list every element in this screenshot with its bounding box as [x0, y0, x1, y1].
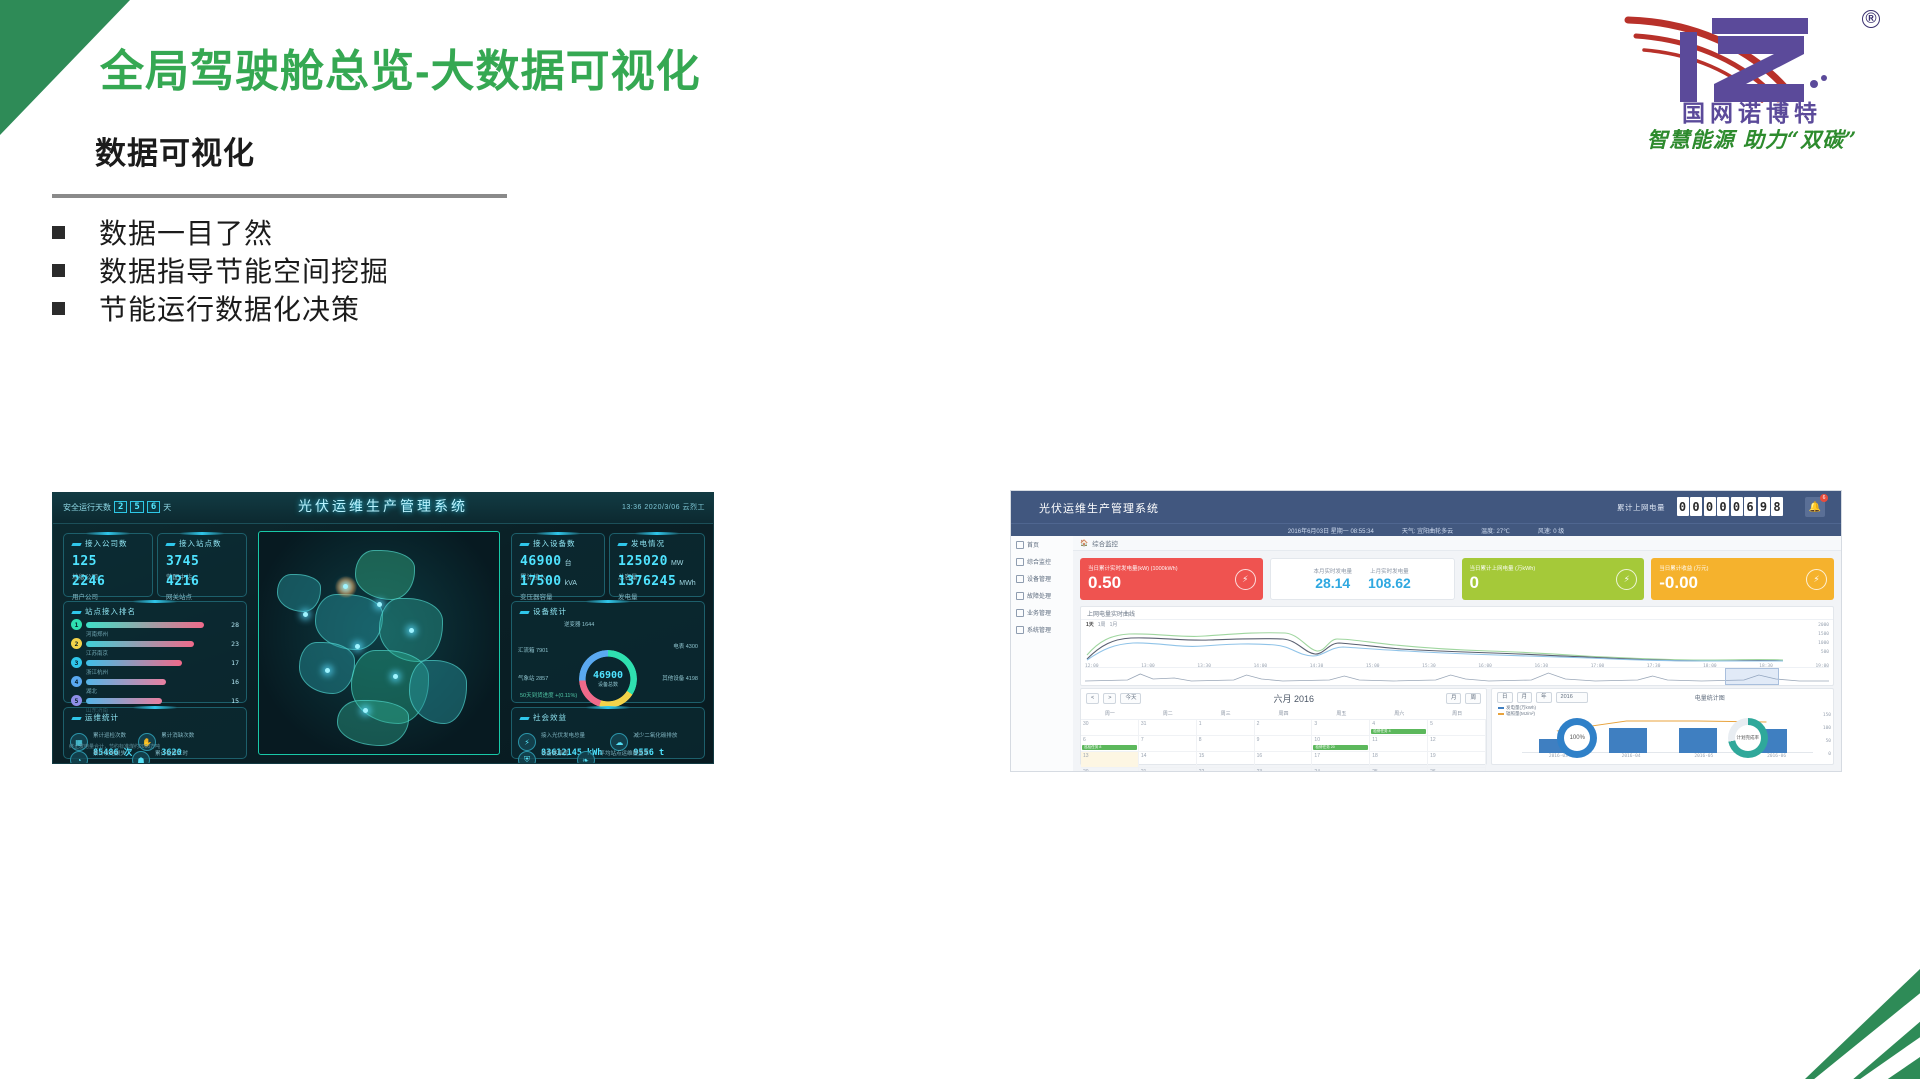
rank-bar — [86, 698, 162, 704]
chart-tab[interactable]: 1月 — [1110, 621, 1118, 628]
legend-name: 逆变器 — [564, 622, 581, 628]
y-tick: 1500 — [1818, 632, 1829, 637]
rank-row: 1 28 — [71, 619, 239, 630]
year-select[interactable]: 2016 — [1556, 692, 1588, 703]
kpi-card-daily-generation: 当日累计实时发电量(kW) (1000kWh) 0.50 ⚡ — [1080, 558, 1263, 600]
calendar-weekday: 周一 — [1081, 708, 1139, 720]
bolt-icon: ⚡ — [1806, 569, 1827, 590]
ops-label: 累计检修工时 — [155, 751, 188, 757]
sidebar-item-monitor[interactable]: 综合监控 — [1011, 553, 1073, 570]
calendar-day-cell[interactable]: 18 — [1370, 752, 1428, 768]
realtime-curve-panel: 上网电量实时曲线 1天 1周 1月 12:00 13:00 13:30 14:0… — [1080, 606, 1834, 686]
legend-name: 其他设备 — [662, 676, 684, 682]
section-subtitle: 数据可视化 — [95, 128, 255, 173]
person-icon: ☗ — [132, 751, 150, 764]
sidebar-item-label: 系统管理 — [1027, 625, 1051, 634]
light-dashboard-title: 光伏运维生产管理系统 — [1039, 500, 1159, 516]
calendar-weekday: 周三 — [1197, 708, 1255, 720]
left-dashboard-screenshot: 光伏运维生产管理系统 安全运行天数 2 5 6 天 13:36 2020/3/0… — [52, 492, 714, 764]
safety-digit: 2 — [114, 501, 127, 513]
map-panel — [258, 531, 500, 755]
rank-bar — [86, 622, 204, 628]
map-marker — [409, 628, 414, 633]
safety-digit: 5 — [130, 501, 143, 513]
calendar-weekday: 周五 — [1312, 708, 1370, 720]
social-item: ⛨ 设备健康度98% — [518, 742, 569, 764]
company-logo: ® 国网诺博特 智慧能源 助力“双碳” — [1618, 6, 1886, 154]
meter-label: 累计上网电量 — [1617, 502, 1665, 513]
calendar-weekday: 周二 — [1139, 708, 1197, 720]
list-item: 数据指导节能空间挖掘 — [52, 251, 389, 289]
bullet-square-icon — [52, 302, 65, 315]
card-caption: 运维统计 — [72, 712, 119, 723]
rank-number: 2 — [71, 638, 82, 649]
corner-wedge-bottom-right — [1805, 969, 1920, 1079]
bullet-text: 数据一目了然 — [99, 212, 273, 252]
list-item: 数据一目了然 — [52, 213, 389, 251]
notification-bell-button[interactable]: 🔔 6 — [1805, 497, 1825, 517]
rank-row: 4 16 — [71, 676, 239, 687]
kpi-card-row: 当日累计实时发电量(kW) (1000kWh) 0.50 ⚡ 本月实时发电量 2… — [1073, 551, 1841, 607]
rank-row: 2 23 — [71, 638, 239, 649]
kpi-dual-value: 28.14 — [1313, 575, 1352, 591]
meter-digit: 0 — [1677, 497, 1689, 516]
breadcrumb-item[interactable]: 综合监控 — [1092, 538, 1118, 548]
card-unit: 台 — [565, 560, 572, 567]
period-year-button[interactable]: 年 — [1536, 692, 1552, 703]
monitor-icon — [1016, 558, 1024, 566]
kpi-card-grid-power: 当日累计上网电量 (万kWh) 0 ⚡ — [1462, 558, 1645, 600]
ops-statistics-panel: 运维统计 ▦ 累计巡检次数85486 次 ✋ 累计消缺次数3620 ◔ 累计发电… — [63, 707, 247, 759]
calendar-day-cell[interactable]: 23 — [1255, 768, 1313, 772]
calendar-day-cell[interactable]: 25 — [1370, 768, 1428, 772]
main-content: 🏠 综合监控 当日累计实时发电量(kW) (1000kWh) 0.50 ⚡ 本月… — [1073, 536, 1841, 771]
calendar-day-cell[interactable]: 9 — [1255, 736, 1313, 752]
card-label: 用户公司 — [72, 591, 105, 601]
calendar-day-cell[interactable]: 8 — [1197, 736, 1255, 752]
calendar-prev-button[interactable]: < — [1086, 693, 1099, 704]
period-day-button[interactable]: 日 — [1497, 692, 1513, 703]
logo-company-name: 国网诺博特 — [1618, 94, 1886, 128]
calendar-day-cell[interactable]: 17 — [1312, 752, 1370, 768]
y-tick: 500 — [1821, 650, 1829, 655]
calendar-day-cell[interactable]: 12 — [1428, 736, 1486, 752]
card-caption: 发电情况 — [618, 538, 665, 549]
calendar-day-cell[interactable]: 19 — [1428, 752, 1486, 768]
gauge-plan-completion: 计划完成率 — [1728, 718, 1768, 758]
status-bar: 2016年6月03日 星期一 08:55:34 天气: 宜阳曲轮多云 温度: 2… — [1011, 523, 1841, 537]
calendar-day-cell[interactable]: 1 — [1197, 720, 1255, 736]
calendar-header: < > 今天 六月 2016 月 周 — [1081, 689, 1486, 708]
registered-trademark-icon: ® — [1862, 10, 1880, 28]
legend-value: 7901 — [536, 648, 548, 654]
sidebar-item-label: 业务管理 — [1027, 608, 1051, 617]
calendar-week-view-button[interactable]: 周 — [1465, 693, 1481, 704]
kpi-dual-label: 上月实时发电量 — [1368, 567, 1411, 575]
list-item: 节能运行数据化决策 — [52, 289, 389, 327]
card-value: 125 — [72, 554, 97, 569]
breadcrumb: 🏠 综合监控 — [1073, 536, 1841, 551]
card-value: 3745 — [166, 554, 199, 569]
status-temperature: 温度: 27℃ — [1481, 526, 1510, 535]
station-rank-panel: 站点接入排名 1 28 河南郑州 2 23 江苏南京 3 17 浙江杭州 4 — [63, 601, 247, 703]
power-statistics-panel: 日 月 年 2016 电量统计图 发电量(万kWh) 辐照量(MJ/m²) — [1491, 688, 1834, 765]
calendar-weekday: 周日 — [1428, 708, 1486, 720]
calendar-panel: < > 今天 六月 2016 月 周 周一 周二 周三 周四 周五 周六 周日 … — [1080, 688, 1487, 765]
legend-value: 4198 — [686, 676, 698, 682]
card-unit: MW — [671, 560, 683, 567]
status-weather: 天气: 宜阳曲轮多云 — [1402, 526, 1453, 535]
kpi-dual-value: 108.62 — [1368, 575, 1411, 591]
calendar-day-cell[interactable]: 7 — [1139, 736, 1197, 752]
sidebar-item-label: 设备管理 — [1027, 574, 1051, 583]
legend-name: 汇流箱 — [518, 648, 535, 654]
safety-days-unit: 天 — [163, 502, 171, 513]
line-chart-svg — [1085, 629, 1785, 665]
calendar-weekday: 周四 — [1255, 708, 1313, 720]
legend-value: 1644 — [582, 622, 594, 628]
rank-row: 3 17 — [71, 657, 239, 668]
calendar-day-cell[interactable]: 31 — [1139, 720, 1197, 736]
bullet-square-icon — [52, 264, 65, 277]
power-panel-header: 日 月 年 2016 电量统计图 — [1492, 689, 1833, 706]
social-label: 减少二氧化碳排放 — [633, 733, 677, 739]
calendar-day-cell[interactable]: 24 — [1312, 768, 1370, 772]
donut-value: 46900 — [593, 670, 623, 681]
device-footer-note: 50天到货进度 +(0.11%) — [520, 691, 577, 699]
divider — [52, 194, 507, 198]
kpi-card-monthly-compare: 本月实时发电量 28.14 上月实时发电量 108.62 — [1270, 558, 1455, 600]
bullet-square-icon — [52, 226, 65, 239]
sidebar-item-alarm[interactable]: 故障处理 — [1011, 587, 1073, 604]
legend-value: 2857 — [536, 676, 548, 682]
card-caption: 设备统计 — [520, 606, 567, 617]
bell-icon: 🔔 — [1809, 502, 1821, 513]
gauge-label: 计划完成率 — [1735, 725, 1761, 751]
meter-digit: 0 — [1717, 497, 1729, 516]
shield-icon: ⛨ — [518, 751, 536, 764]
calendar-day-cell[interactable]: 5 — [1428, 720, 1486, 736]
device-icon — [1016, 575, 1024, 583]
legend-name: 气象站 — [518, 676, 535, 682]
map-marker — [303, 612, 308, 617]
rank-bar — [86, 679, 166, 685]
social-item: ❧ 平均站点运维覆盖率96% — [577, 742, 650, 764]
bullet-text: 数据指导节能空间挖掘 — [99, 250, 389, 290]
rank-number: 4 — [71, 676, 82, 687]
ops-label: 累计巡检次数 — [93, 733, 126, 739]
calendar-day-cell[interactable]: 26 — [1428, 768, 1486, 772]
meter-digit: 8 — [1771, 497, 1783, 516]
kpi-card-stations: 接入站点数 3745 营配中站 4216 网关站点 — [157, 533, 247, 597]
calendar-day-cell[interactable]: 16 — [1255, 752, 1313, 768]
kpi-card-devices: 接入设备数 46900台 累计接入 17500kVA 变压器容量 — [511, 533, 605, 597]
period-month-button[interactable]: 月 — [1517, 692, 1533, 703]
home-icon — [1016, 541, 1024, 549]
card-caption: 接入站点数 — [166, 538, 222, 549]
rank-number: 3 — [71, 657, 82, 668]
kpi-title: 当日累计收益 (万元) — [1659, 564, 1826, 572]
rank-bar — [86, 660, 182, 666]
chart-tab[interactable]: 1周 — [1098, 621, 1106, 628]
calendar-day-cell[interactable]: 30 — [1081, 720, 1139, 736]
card-value: 1376245 — [618, 574, 676, 589]
card-label: 变压器容量 — [520, 591, 577, 601]
kpi-card-revenue: 当日累计收益 (万元) -0.00 ⚡ — [1651, 558, 1834, 600]
card-caption: 接入设备数 — [520, 538, 576, 549]
calendar-day-cell-today[interactable]: 13 — [1081, 752, 1139, 768]
page-title: 全局驾驶舱总览-大数据可视化 — [100, 35, 701, 99]
calendar-day-cell[interactable]: 22 — [1197, 768, 1255, 772]
calendar-title: 六月 2016 — [1145, 692, 1442, 705]
bolt-icon: ⚡ — [1235, 569, 1256, 590]
card-value: 17500 — [520, 574, 562, 589]
calendar-day-cell[interactable]: 21 — [1139, 768, 1197, 772]
status-wind: 风速: 0 级 — [1538, 526, 1564, 535]
rank-number: 1 — [71, 619, 82, 630]
map-marker — [393, 674, 398, 679]
card-value: 125020 — [618, 554, 668, 569]
calendar-today-button[interactable]: 今天 — [1120, 693, 1141, 704]
calendar-day-cell[interactable]: 4 检修任务 4 — [1370, 720, 1428, 736]
social-label: 接入光伏发电总量 — [541, 733, 585, 739]
gauge-completion: 100% — [1557, 718, 1597, 758]
rank-value: 17 — [231, 659, 239, 667]
rank-value: 16 — [231, 678, 239, 686]
sidebar-item-business[interactable]: 业务管理 — [1011, 604, 1073, 621]
rank-value: 28 — [231, 621, 239, 629]
safety-days-label: 安全运行天数 — [63, 502, 111, 513]
gear-icon — [1016, 626, 1024, 634]
card-caption: 接入公司数 — [72, 538, 128, 549]
calendar-day-cell[interactable]: 3 — [1312, 720, 1370, 736]
right-dashboard-screenshot: 光伏运维生产管理系统 累计上网电量 0 0 0 0 0 6 9 8 🔔 6 20… — [1010, 490, 1842, 772]
calendar-day-cell[interactable]: 15 — [1197, 752, 1255, 768]
calendar-grid: 周一 周二 周三 周四 周五 周六 周日 30 31 1 2 3 4 检修任务 … — [1081, 708, 1486, 772]
sidebar-item-label: 故障处理 — [1027, 591, 1051, 600]
rank-row: 5 15 — [71, 695, 239, 706]
meter-digit: 0 — [1731, 497, 1743, 516]
chart-icon: ◔ — [70, 751, 88, 764]
kpi-value: -0.00 — [1659, 573, 1826, 593]
legend-value: 4300 — [686, 644, 698, 650]
calendar-day-cell[interactable]: 11 — [1370, 736, 1428, 752]
card-value: 4216 — [166, 574, 199, 589]
device-statistics-panel: 设备统计 46900 设备总数 逆变器 1644 汇流箱 7901 电表 430… — [511, 601, 705, 703]
chart-panel-header: 上网电量实时曲线 — [1081, 607, 1833, 620]
map-marker — [377, 602, 382, 607]
map-marker — [355, 644, 360, 649]
device-donut-chart: 46900 设备总数 — [579, 650, 637, 708]
kpi-value: 0 — [1470, 573, 1637, 593]
card-unit: MWh — [679, 580, 695, 587]
rank-name: 浙江杭州 — [86, 668, 239, 676]
rank-name: 河南郑州 — [86, 630, 239, 638]
ops-label: 累计发电损失 — [93, 751, 126, 757]
rank-name: 江苏南京 — [86, 649, 239, 657]
user-icon — [1016, 609, 1024, 617]
chart-tab[interactable]: 1天 — [1086, 621, 1094, 628]
social-label: 设备健康度 — [541, 751, 569, 757]
meter-digit: 0 — [1704, 497, 1716, 516]
y-tick: 1000 — [1818, 641, 1829, 646]
leaf-icon: ❧ — [577, 751, 595, 764]
map-marker — [325, 668, 330, 673]
calendar-weekday: 周六 — [1370, 708, 1428, 720]
ops-footer-note: 终止发电量合计，节约标准煤约2000方吨 — [69, 743, 160, 750]
bullet-list: 数据一目了然 数据指导节能空间挖掘 节能运行数据化决策 — [52, 213, 389, 327]
sidebar: 首页 综合监控 设备管理 故障处理 业务管理 系统管理 — [1011, 536, 1074, 771]
chart-brush[interactable] — [1085, 667, 1829, 683]
notification-badge: 6 — [1820, 494, 1828, 502]
breadcrumb-icon: 🏠 — [1080, 539, 1088, 547]
sidebar-item-system[interactable]: 系统管理 — [1011, 621, 1073, 638]
rank-number: 5 — [71, 695, 82, 706]
rank-value: 23 — [231, 640, 239, 648]
calendar-day-cell[interactable]: 10 检修任务 20 — [1312, 736, 1370, 752]
calendar-day-cell[interactable]: 6 巡检任务 8 — [1081, 736, 1139, 752]
dark-dashboard-clock: 13:36 2020/3/06 云烈工 — [622, 502, 705, 512]
y-tick: 2000 — [1818, 623, 1829, 628]
gauge-value: 100% — [1564, 725, 1590, 751]
brush-window[interactable] — [1725, 668, 1779, 685]
chart-panel-title: 上网电量实时曲线 — [1087, 609, 1135, 618]
safety-days-indicator: 安全运行天数 2 5 6 天 — [63, 501, 171, 513]
sidebar-item-label: 首页 — [1027, 540, 1039, 549]
calendar-next-button[interactable]: > — [1103, 693, 1116, 704]
calendar-day-cell[interactable]: 2 — [1255, 720, 1313, 736]
rank-name: 湖北 — [86, 687, 239, 695]
kpi-title: 当日累计上网电量 (万kWh) — [1470, 564, 1637, 572]
calendar-event[interactable]: 检修任务 4 — [1371, 729, 1426, 734]
kpi-title: 当日累计实时发电量(kW) (1000kWh) — [1088, 564, 1255, 572]
card-value: 46900 — [520, 554, 562, 569]
kpi-dual-label: 本月实时发电量 — [1313, 567, 1352, 575]
calendar-month-view-button[interactable]: 月 — [1446, 693, 1462, 704]
status-datetime: 2016年6月03日 星期一 08:55:34 — [1288, 526, 1374, 535]
power-panel-title: 电量统计图 — [1592, 693, 1828, 702]
calendar-day-cell[interactable]: 14 — [1139, 752, 1197, 768]
meter-digit-group: 0 0 0 0 0 6 9 8 — [1677, 497, 1784, 516]
alarm-icon — [1016, 592, 1024, 600]
meter-digit: 6 — [1744, 497, 1756, 516]
card-caption: 站点接入排名 — [72, 606, 136, 617]
card-value: 2246 — [72, 574, 105, 589]
kpi-value: 0.50 — [1088, 573, 1255, 593]
sidebar-item-device[interactable]: 设备管理 — [1011, 570, 1073, 587]
kpi-card-companies: 接入公司数 125 地级公司 2246 用户公司 — [63, 533, 153, 597]
card-caption: 社会效益 — [520, 712, 567, 723]
rank-value: 15 — [231, 697, 239, 705]
calendar-event[interactable]: 检修任务 20 — [1313, 745, 1368, 750]
social-benefit-panel: 社会效益 ⚡ 接入光伏发电总量83612145 kWh ☁ 减少二氧化碳排放95… — [511, 707, 705, 759]
legend-name: 电表 — [673, 644, 684, 650]
rank-bar — [86, 641, 194, 647]
calendar-event[interactable]: 巡检任务 8 — [1082, 745, 1137, 750]
map-marker — [343, 584, 348, 589]
donut-label: 设备总数 — [598, 681, 618, 688]
meter-digit: 0 — [1690, 497, 1702, 516]
safety-digit: 6 — [147, 501, 160, 513]
sidebar-item-label: 综合监控 — [1027, 557, 1051, 566]
social-label: 平均站点运维覆盖率 — [600, 751, 650, 757]
ops-label: 累计消缺次数 — [161, 733, 194, 739]
logo-tagline: 智慧能源 助力“双碳” — [1618, 124, 1886, 154]
calendar-day-cell[interactable]: 20 — [1081, 768, 1139, 772]
legend-label: 发电量(万kWh) — [1506, 705, 1536, 710]
bullet-text: 节能运行数据化决策 — [99, 288, 360, 328]
map-marker — [363, 708, 368, 713]
sidebar-item-home[interactable]: 首页 — [1011, 536, 1073, 553]
kpi-card-generation: 发电情况 125020MW 总容量 1376245MWh 发电量 — [609, 533, 705, 597]
card-unit: kVA — [565, 580, 577, 587]
meter-digit: 9 — [1758, 497, 1770, 516]
